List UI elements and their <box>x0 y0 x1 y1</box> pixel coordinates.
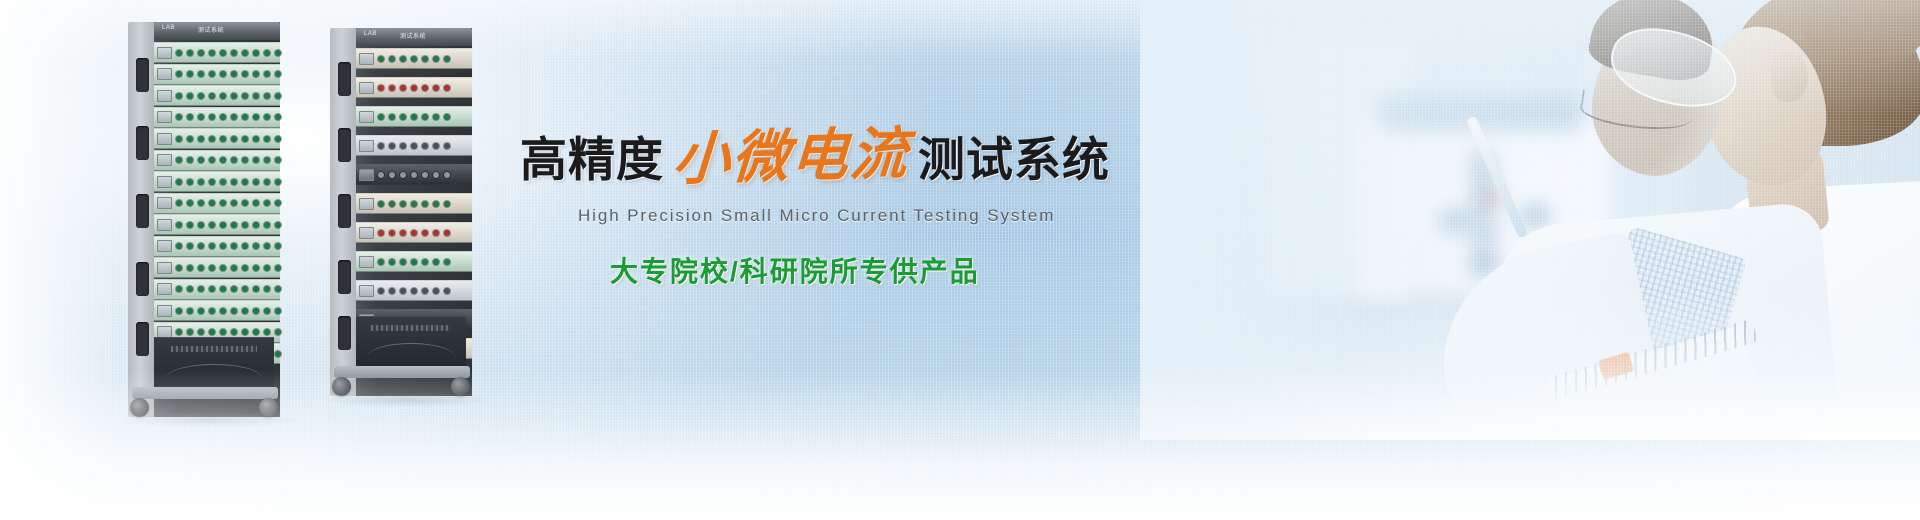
module-port <box>411 230 417 236</box>
module-port <box>220 93 226 99</box>
module-port <box>231 329 237 335</box>
module-port <box>389 259 395 265</box>
module-port <box>422 201 428 207</box>
module-port <box>242 136 248 142</box>
module-port-row <box>374 114 472 120</box>
module-port <box>220 200 226 206</box>
module-display <box>157 154 172 166</box>
rack-module <box>356 135 472 156</box>
module-port <box>242 243 248 249</box>
module-port <box>411 172 417 178</box>
module-port <box>433 114 439 120</box>
module-port <box>231 157 237 163</box>
module-port <box>242 308 248 314</box>
module-port <box>444 143 450 149</box>
module-port-row <box>172 222 285 228</box>
module-port <box>176 286 182 292</box>
module-port <box>275 93 281 99</box>
module-port <box>231 243 237 249</box>
module-port <box>444 201 450 207</box>
module-port <box>187 286 193 292</box>
module-port <box>176 308 182 314</box>
module-port <box>187 222 193 228</box>
module-port <box>242 222 248 228</box>
module-port <box>198 114 204 120</box>
module-display <box>359 169 374 181</box>
module-port <box>411 201 417 207</box>
module-port <box>275 286 281 292</box>
module-port-row <box>172 179 285 185</box>
module-port <box>275 351 281 357</box>
rack-module <box>154 279 280 300</box>
module-port <box>231 308 237 314</box>
module-port <box>209 93 215 99</box>
module-port <box>242 157 248 163</box>
module-port <box>176 329 182 335</box>
module-port <box>275 114 281 120</box>
module-port-row <box>172 329 285 335</box>
module-port <box>198 179 204 185</box>
module-port <box>231 71 237 77</box>
module-display <box>359 82 374 94</box>
module-port <box>242 265 248 271</box>
module-port-row <box>172 114 285 120</box>
module-port <box>242 93 248 99</box>
module-port <box>275 243 281 249</box>
rack-module <box>154 64 280 85</box>
module-port <box>198 93 204 99</box>
module-port <box>264 114 270 120</box>
module-port <box>242 50 248 56</box>
module-port <box>198 157 204 163</box>
module-port <box>411 56 417 62</box>
rack-module <box>356 251 472 272</box>
module-port <box>209 243 215 249</box>
module-port <box>433 143 439 149</box>
module-port <box>220 265 226 271</box>
module-port <box>253 329 259 335</box>
module-port <box>433 85 439 91</box>
module-port <box>198 265 204 271</box>
module-port <box>209 286 215 292</box>
banner-subtitle-english: High Precision Small Micro Current Testi… <box>578 206 1140 226</box>
module-port-row <box>374 201 472 207</box>
module-port <box>198 286 204 292</box>
module-port <box>444 259 450 265</box>
module-display <box>157 90 172 102</box>
module-port <box>187 265 193 271</box>
module-port <box>422 259 428 265</box>
module-port <box>389 230 395 236</box>
module-display <box>157 133 172 145</box>
module-port <box>220 329 226 335</box>
module-port-row <box>172 243 285 249</box>
module-display <box>359 53 374 65</box>
rack-module <box>356 222 472 243</box>
module-port <box>242 71 248 77</box>
module-port <box>209 136 215 142</box>
module-port <box>275 157 281 163</box>
module-port <box>198 71 204 77</box>
module-port <box>242 286 248 292</box>
module-port <box>433 201 439 207</box>
module-port <box>253 222 259 228</box>
module-port <box>187 50 193 56</box>
module-port <box>264 50 270 56</box>
module-port <box>389 143 395 149</box>
module-port <box>275 50 281 56</box>
module-port <box>253 50 259 56</box>
module-port <box>176 157 182 163</box>
module-port <box>198 329 204 335</box>
module-port <box>400 288 406 294</box>
module-port-row <box>172 286 285 292</box>
module-port <box>411 259 417 265</box>
module-port-row <box>172 308 285 314</box>
module-port <box>264 200 270 206</box>
module-port <box>253 93 259 99</box>
module-port-row <box>374 85 472 91</box>
module-port <box>275 179 281 185</box>
module-port <box>209 71 215 77</box>
module-port <box>389 114 395 120</box>
module-display <box>157 305 172 317</box>
module-display <box>359 111 374 123</box>
module-port <box>187 243 193 249</box>
module-port <box>389 85 395 91</box>
module-port <box>400 201 406 207</box>
module-port <box>209 200 215 206</box>
rack-module <box>356 193 472 214</box>
headline-accent: 小微电流 <box>671 125 911 188</box>
rack-module <box>154 107 280 128</box>
module-port <box>444 56 450 62</box>
module-display <box>157 219 172 231</box>
module-port <box>433 259 439 265</box>
module-port <box>400 85 406 91</box>
module-port <box>209 265 215 271</box>
module-display <box>157 68 172 80</box>
module-port <box>400 259 406 265</box>
rack-module <box>154 42 280 63</box>
module-port <box>220 308 226 314</box>
module-display <box>359 227 374 239</box>
module-port <box>444 288 450 294</box>
module-port <box>411 85 417 91</box>
banner-tagline: 大专院校/科研院所专供产品 <box>610 250 1140 290</box>
module-port <box>444 114 450 120</box>
module-display <box>157 176 172 188</box>
module-port-row <box>374 172 472 178</box>
module-port <box>209 222 215 228</box>
module-port <box>378 230 384 236</box>
rack-module <box>154 214 280 235</box>
module-port <box>264 308 270 314</box>
rack-brand-label: LAB <box>364 31 377 37</box>
module-port <box>253 308 259 314</box>
module-port <box>220 222 226 228</box>
module-display <box>359 140 374 152</box>
rack-module <box>154 85 280 106</box>
module-port <box>264 286 270 292</box>
module-display <box>157 240 172 252</box>
module-port <box>187 329 193 335</box>
module-port-row <box>172 136 285 142</box>
module-port <box>411 288 417 294</box>
module-port <box>275 329 281 335</box>
module-port <box>378 56 384 62</box>
module-port <box>389 288 395 294</box>
rack-model-label: 测试系统 <box>198 25 224 34</box>
module-port <box>176 265 182 271</box>
rack-module <box>356 106 472 127</box>
rack-base-label <box>371 325 450 331</box>
module-port <box>231 114 237 120</box>
module-port <box>422 288 428 294</box>
module-port <box>400 114 406 120</box>
module-port <box>231 286 237 292</box>
module-port <box>275 200 281 206</box>
rack-module <box>356 164 472 185</box>
module-port <box>422 85 428 91</box>
module-port <box>231 222 237 228</box>
module-port <box>176 179 182 185</box>
module-port <box>220 50 226 56</box>
module-port <box>198 50 204 56</box>
module-port <box>433 288 439 294</box>
module-port <box>242 329 248 335</box>
module-port <box>389 201 395 207</box>
module-port <box>433 56 439 62</box>
module-port-row <box>172 200 285 206</box>
module-display <box>157 283 172 295</box>
module-port <box>422 172 428 178</box>
module-port <box>378 172 384 178</box>
module-display <box>157 47 172 59</box>
module-port <box>187 157 193 163</box>
module-port <box>231 50 237 56</box>
module-port <box>176 50 182 56</box>
module-port <box>275 136 281 142</box>
rack-plinth <box>356 316 466 370</box>
module-port <box>176 200 182 206</box>
module-port <box>400 172 406 178</box>
module-port <box>253 114 259 120</box>
module-port <box>411 114 417 120</box>
module-port <box>264 265 270 271</box>
module-port <box>378 201 384 207</box>
module-port <box>242 114 248 120</box>
module-display <box>359 256 374 268</box>
module-display <box>157 197 172 209</box>
module-port-row <box>374 288 472 294</box>
equipment-rack-right: LAB 测试系统 <box>330 28 472 396</box>
module-port-row <box>172 157 285 163</box>
module-port <box>220 179 226 185</box>
module-port <box>378 114 384 120</box>
module-port <box>378 143 384 149</box>
module-port <box>209 114 215 120</box>
module-port <box>231 265 237 271</box>
module-port <box>253 243 259 249</box>
module-port <box>187 71 193 77</box>
module-port <box>198 136 204 142</box>
module-port <box>433 172 439 178</box>
module-port <box>264 71 270 77</box>
rack-top-plate: LAB 测试系统 <box>154 22 280 40</box>
module-port <box>275 308 281 314</box>
rack-brand-label: LAB <box>162 25 175 31</box>
module-port <box>378 85 384 91</box>
rack-module <box>154 300 280 321</box>
module-port <box>275 265 281 271</box>
module-port-row <box>374 259 472 265</box>
rack-module <box>356 48 472 69</box>
module-display <box>157 111 172 123</box>
rack-model-label: 测试系统 <box>400 31 426 40</box>
rack-module <box>356 280 472 301</box>
module-port <box>209 50 215 56</box>
rack-module <box>154 171 280 192</box>
module-port <box>187 93 193 99</box>
module-port <box>253 136 259 142</box>
rack-module <box>154 128 280 149</box>
module-port <box>209 329 215 335</box>
rack-module <box>154 257 280 278</box>
module-port <box>209 157 215 163</box>
module-port <box>444 85 450 91</box>
module-port <box>253 157 259 163</box>
module-port <box>264 329 270 335</box>
module-port <box>220 157 226 163</box>
headline-trail: 测试系统 <box>918 136 1110 183</box>
module-port <box>400 143 406 149</box>
module-port <box>187 136 193 142</box>
rack-top-plate: LAB 测试系统 <box>356 28 472 46</box>
module-display <box>157 262 172 274</box>
module-port <box>176 114 182 120</box>
banner-text-block: 高精度 小微电流 测试系统 High Precision Small Micro… <box>520 128 1140 290</box>
module-port-row <box>374 56 472 62</box>
module-port-row <box>172 93 285 99</box>
module-port <box>378 288 384 294</box>
module-port <box>176 93 182 99</box>
module-port <box>275 222 281 228</box>
module-port <box>400 230 406 236</box>
headline-lead: 高精度 <box>520 136 664 183</box>
module-port <box>264 136 270 142</box>
module-port <box>444 172 450 178</box>
module-port-row <box>172 71 285 77</box>
module-port <box>220 71 226 77</box>
module-port <box>444 230 450 236</box>
module-port <box>264 157 270 163</box>
module-port <box>187 308 193 314</box>
module-port <box>220 286 226 292</box>
module-port <box>176 136 182 142</box>
module-port <box>389 172 395 178</box>
module-port <box>253 200 259 206</box>
module-port <box>198 200 204 206</box>
module-port <box>209 308 215 314</box>
module-port <box>242 200 248 206</box>
module-port-row <box>374 230 472 236</box>
module-port <box>422 56 428 62</box>
rack-base-trim <box>367 343 455 357</box>
module-port <box>220 243 226 249</box>
hero-banner: LAB 测试系统 LAB 测试系统 <box>0 0 1920 520</box>
background-bottom-fade <box>0 370 1920 520</box>
module-port <box>264 222 270 228</box>
module-port <box>220 136 226 142</box>
module-port <box>187 179 193 185</box>
module-port-row <box>374 143 472 149</box>
module-port <box>433 230 439 236</box>
module-port <box>242 179 248 185</box>
module-port <box>187 200 193 206</box>
module-port <box>422 114 428 120</box>
rack-module <box>154 150 280 171</box>
module-port <box>422 230 428 236</box>
rack-module <box>356 77 472 98</box>
rack-base-label <box>171 346 257 352</box>
module-port <box>176 243 182 249</box>
module-port <box>231 136 237 142</box>
module-port <box>400 56 406 62</box>
module-port <box>378 259 384 265</box>
module-display <box>359 198 374 210</box>
module-port <box>231 200 237 206</box>
module-port <box>253 71 259 77</box>
module-port <box>275 71 281 77</box>
equipment-rack-left: LAB 测试系统 <box>128 22 280 417</box>
module-port-row <box>172 265 285 271</box>
module-port <box>209 179 215 185</box>
module-port <box>187 114 193 120</box>
module-display <box>359 285 374 297</box>
module-port <box>264 243 270 249</box>
module-port <box>231 93 237 99</box>
module-port <box>176 71 182 77</box>
module-port <box>176 222 182 228</box>
module-port <box>253 286 259 292</box>
module-port <box>389 56 395 62</box>
module-port <box>264 93 270 99</box>
module-port <box>422 143 428 149</box>
module-port <box>253 265 259 271</box>
module-port-row <box>172 50 285 56</box>
module-port <box>198 222 204 228</box>
rack-module <box>154 193 280 214</box>
module-port <box>198 308 204 314</box>
module-port <box>231 179 237 185</box>
module-port <box>198 243 204 249</box>
module-port <box>411 143 417 149</box>
rack-module <box>154 236 280 257</box>
module-port <box>220 114 226 120</box>
banner-headline: 高精度 小微电流 测试系统 <box>520 128 1140 185</box>
module-port <box>253 179 259 185</box>
module-port <box>264 179 270 185</box>
